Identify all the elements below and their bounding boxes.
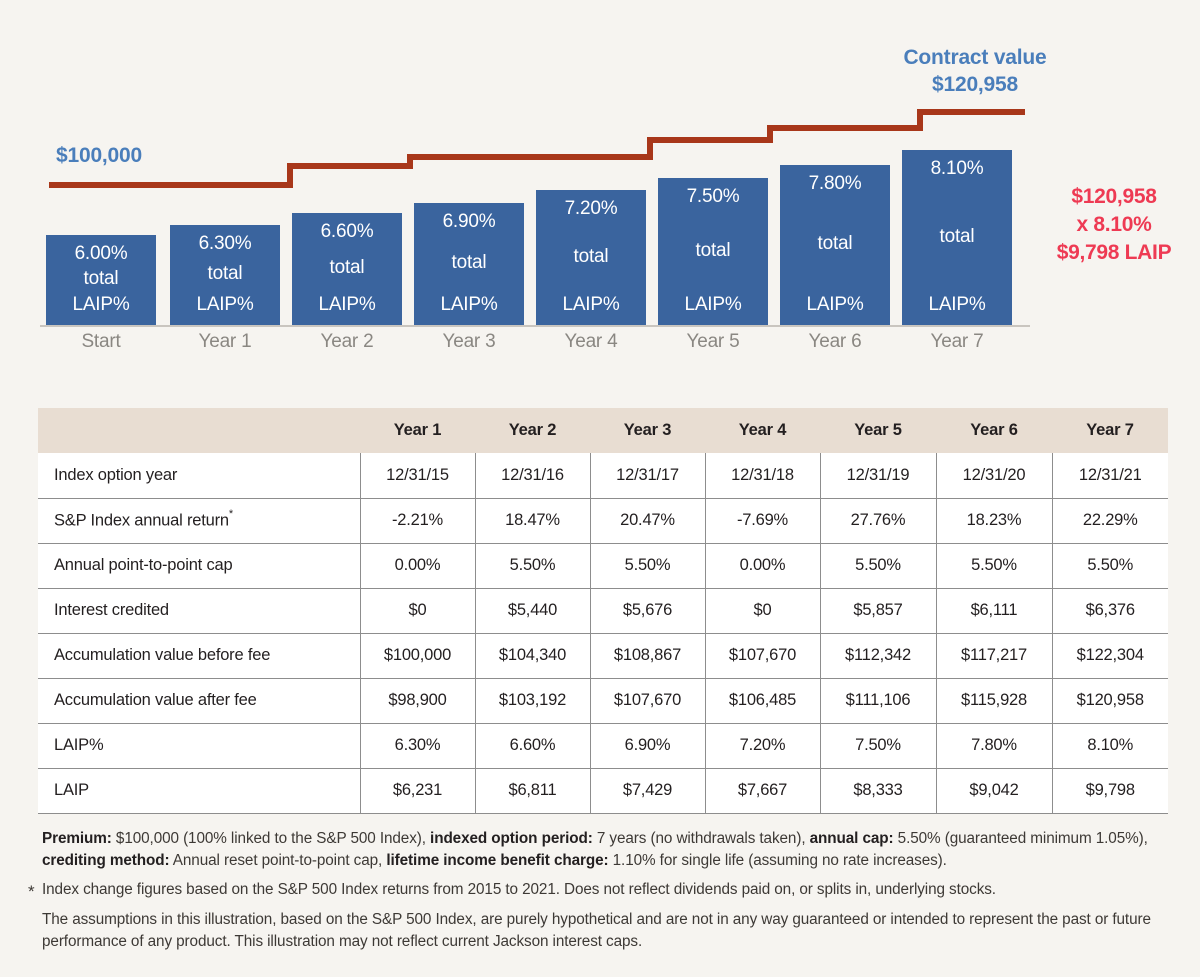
- row-label: Accumulation value after fee: [38, 678, 360, 723]
- table-cell: $103,192: [475, 678, 590, 723]
- table-cell: 8.10%: [1052, 723, 1168, 768]
- bar-slot-year-5: 7.50% total LAIP%: [658, 178, 768, 325]
- bar-percent-label: 6.30%: [199, 233, 252, 255]
- x-label-year-7: Year 7: [902, 331, 1012, 353]
- laip-calc-result: $9,798 LAIP: [1030, 239, 1198, 267]
- table-header-row: Year 1 Year 2 Year 3 Year 4 Year 5 Year …: [38, 408, 1168, 453]
- chart-area: $100,000 Contract value $120,958 6.00% t…: [0, 0, 1200, 400]
- bar-sub-label-1: total: [330, 257, 365, 279]
- bar-percent-label: 7.20%: [565, 198, 618, 220]
- x-label-year-5: Year 5: [658, 331, 768, 353]
- x-label-start: Start: [46, 331, 156, 353]
- bar-slot-start: 6.00% total LAIP%: [46, 235, 156, 325]
- bar-slot-year-3: 6.90% total LAIP%: [414, 203, 524, 325]
- assumption-value-annual-cap: 5.50% (guaranteed minimum 1.05%),: [894, 830, 1148, 847]
- laip-calc-value: $120,958: [1030, 183, 1198, 211]
- row-label: LAIP%: [38, 723, 360, 768]
- bar-sub-label-1: total: [818, 233, 853, 255]
- laip-calculation-callout: $120,958 x 8.10% $9,798 LAIP: [1030, 183, 1198, 267]
- laip-bar: 6.30% total LAIP%: [170, 225, 280, 325]
- bar-sub-label-2: LAIP%: [72, 294, 129, 316]
- table-cell: 6.90%: [590, 723, 705, 768]
- x-label-year-3: Year 3: [414, 331, 524, 353]
- bar-sub-label-2: LAIP%: [562, 294, 619, 316]
- table-cell: $108,867: [590, 633, 705, 678]
- table-cell: $106,485: [705, 678, 820, 723]
- table-row: LAIP% 6.30% 6.60% 6.90% 7.20% 7.50% 7.80…: [38, 723, 1168, 768]
- x-label-year-4: Year 4: [536, 331, 646, 353]
- assumption-label-annual-cap: annual cap:: [810, 830, 894, 847]
- footnote-star-note: Index change figures based on the S&P 50…: [42, 879, 1182, 901]
- contract-value-amount: $120,958: [860, 72, 1090, 99]
- chart-x-axis-labels: Start Year 1 Year 2 Year 3 Year 4 Year 5…: [46, 331, 1024, 361]
- footnote-disclaimer: The assumptions in this illustration, ba…: [42, 909, 1182, 953]
- table-cell: $5,440: [475, 588, 590, 633]
- bar-sub-label-2: LAIP%: [196, 294, 253, 316]
- x-label-year-1: Year 1: [170, 331, 280, 353]
- bar-sub-label-2: LAIP%: [440, 294, 497, 316]
- table-header-year-5: Year 5: [820, 408, 936, 453]
- table-cell: 18.47%: [475, 498, 590, 543]
- bar-slot-year-2: 6.60% total LAIP%: [292, 213, 402, 325]
- bar-percent-label: 8.10%: [931, 158, 984, 180]
- table-header-year-1: Year 1: [360, 408, 475, 453]
- table-cell: 20.47%: [590, 498, 705, 543]
- table-row: Accumulation value before fee $100,000 $…: [38, 633, 1168, 678]
- table-header-year-6: Year 6: [936, 408, 1052, 453]
- laip-bar: 6.00% total LAIP%: [46, 235, 156, 325]
- table-cell: 7.80%: [936, 723, 1052, 768]
- table-cell: 7.20%: [705, 723, 820, 768]
- x-label-year-6: Year 6: [780, 331, 890, 353]
- bar-sub-label-1: total: [574, 246, 609, 268]
- table-cell: 5.50%: [820, 543, 936, 588]
- laip-bars-row: 6.00% total LAIP% 6.30% total LAIP% 6.60…: [46, 120, 1024, 325]
- table-header-blank: [38, 408, 360, 453]
- table-cell: 22.29%: [1052, 498, 1168, 543]
- row-label: Annual point-to-point cap: [38, 543, 360, 588]
- table-cell: 6.60%: [475, 723, 590, 768]
- table-cell: $7,667: [705, 768, 820, 813]
- assumptions-paragraph: Premium: $100,000 (100% linked to the S&…: [42, 828, 1182, 872]
- table-cell: $115,928: [936, 678, 1052, 723]
- table-cell: 0.00%: [705, 543, 820, 588]
- bar-sub-label-2: LAIP%: [684, 294, 741, 316]
- table-cell: $9,042: [936, 768, 1052, 813]
- table-cell: 6.30%: [360, 723, 475, 768]
- bar-percent-label: 6.60%: [321, 221, 374, 243]
- assumption-label-crediting-method: crediting method:: [42, 852, 169, 869]
- table-cell: $9,798: [1052, 768, 1168, 813]
- table-cell: $6,811: [475, 768, 590, 813]
- footnote-star-marker: *: [28, 880, 35, 905]
- x-label-year-2: Year 2: [292, 331, 402, 353]
- assumption-value-option-period: 7 years (no withdrawals taken),: [593, 830, 810, 847]
- footnotes-section: * Premium: $100,000 (100% linked to the …: [42, 828, 1182, 960]
- bar-sub-label-1: total: [940, 226, 975, 248]
- assumption-label-premium: Premium:: [42, 830, 112, 847]
- table-cell: 5.50%: [1052, 543, 1168, 588]
- table-cell: $5,857: [820, 588, 936, 633]
- row-label: Accumulation value before fee: [38, 633, 360, 678]
- table-cell: 12/31/21: [1052, 453, 1168, 498]
- table-row: Accumulation value after fee $98,900 $10…: [38, 678, 1168, 723]
- table-cell: 12/31/18: [705, 453, 820, 498]
- contract-value-title: Contract value: [860, 45, 1090, 72]
- table-cell: $8,333: [820, 768, 936, 813]
- assumption-value-benefit-charge: 1.10% for single life (assuming no rate …: [609, 852, 947, 869]
- table-row: Interest credited $0 $5,440 $5,676 $0 $5…: [38, 588, 1168, 633]
- bar-sub-label-1: total: [208, 263, 243, 285]
- table-cell: -2.21%: [360, 498, 475, 543]
- bar-percent-label: 7.50%: [687, 186, 740, 208]
- table-cell: $100,000: [360, 633, 475, 678]
- assumption-label-option-period: indexed option period:: [430, 830, 593, 847]
- bar-sub-label-1: total: [84, 268, 119, 290]
- table-cell: $122,304: [1052, 633, 1168, 678]
- table-header-year-7: Year 7: [1052, 408, 1168, 453]
- table-cell: 5.50%: [936, 543, 1052, 588]
- table-cell: $112,342: [820, 633, 936, 678]
- table-cell: 12/31/16: [475, 453, 590, 498]
- illustration-table-wrapper: Year 1 Year 2 Year 3 Year 4 Year 5 Year …: [38, 408, 1168, 814]
- table-cell: $6,231: [360, 768, 475, 813]
- table-cell: -7.69%: [705, 498, 820, 543]
- table-cell: $107,670: [705, 633, 820, 678]
- table-cell: $5,676: [590, 588, 705, 633]
- bar-slot-year-7: 8.10% total LAIP%: [902, 150, 1012, 325]
- laip-bar: 6.90% total LAIP%: [414, 203, 524, 325]
- bar-percent-label: 7.80%: [809, 173, 862, 195]
- assumption-value-crediting-method: Annual reset point-to-point cap,: [169, 852, 386, 869]
- row-label: LAIP: [38, 768, 360, 813]
- laip-calc-rate: x 8.10%: [1030, 211, 1198, 239]
- bar-slot-year-6: 7.80% total LAIP%: [780, 165, 890, 325]
- table-row: LAIP $6,231 $6,811 $7,429 $7,667 $8,333 …: [38, 768, 1168, 813]
- laip-bar: 7.80% total LAIP%: [780, 165, 890, 325]
- bar-sub-label-1: total: [696, 240, 731, 262]
- table-row: S&P Index annual return* -2.21% 18.47% 2…: [38, 498, 1168, 543]
- bar-percent-label: 6.00%: [75, 243, 128, 265]
- row-label: S&P Index annual return*: [38, 498, 360, 543]
- footnote-star-icon: *: [229, 508, 233, 520]
- table-row: Index option year 12/31/15 12/31/16 12/3…: [38, 453, 1168, 498]
- table-cell: $104,340: [475, 633, 590, 678]
- bar-sub-label-2: LAIP%: [806, 294, 863, 316]
- table-cell: $117,217: [936, 633, 1052, 678]
- bar-sub-label-2: LAIP%: [318, 294, 375, 316]
- laip-bar: 7.20% total LAIP%: [536, 190, 646, 325]
- row-label-text: S&P Index annual return: [54, 512, 229, 530]
- table-cell: 12/31/17: [590, 453, 705, 498]
- bar-sub-label-2: LAIP%: [928, 294, 985, 316]
- laip-bar: 8.10% total LAIP%: [902, 150, 1012, 325]
- table-cell: 12/31/15: [360, 453, 475, 498]
- bar-sub-label-1: total: [452, 252, 487, 274]
- table-cell: 27.76%: [820, 498, 936, 543]
- table-cell: $0: [360, 588, 475, 633]
- assumption-label-benefit-charge: lifetime income benefit charge:: [386, 852, 608, 869]
- table-cell: 7.50%: [820, 723, 936, 768]
- table-header-year-4: Year 4: [705, 408, 820, 453]
- assumption-value-premium: $100,000 (100% linked to the S&P 500 Ind…: [112, 830, 430, 847]
- table-cell: 12/31/20: [936, 453, 1052, 498]
- table-cell: $107,670: [590, 678, 705, 723]
- table-cell: $120,958: [1052, 678, 1168, 723]
- table-header-year-3: Year 3: [590, 408, 705, 453]
- table-cell: $111,106: [820, 678, 936, 723]
- table-header-year-2: Year 2: [475, 408, 590, 453]
- row-label: Interest credited: [38, 588, 360, 633]
- laip-bar: 6.60% total LAIP%: [292, 213, 402, 325]
- row-label: Index option year: [38, 453, 360, 498]
- table-cell: $6,376: [1052, 588, 1168, 633]
- illustration-table: Year 1 Year 2 Year 3 Year 4 Year 5 Year …: [38, 408, 1168, 814]
- table-cell: 12/31/19: [820, 453, 936, 498]
- table-cell: $0: [705, 588, 820, 633]
- table-cell: 18.23%: [936, 498, 1052, 543]
- laip-bar: 7.50% total LAIP%: [658, 178, 768, 325]
- bar-slot-year-4: 7.20% total LAIP%: [536, 190, 646, 325]
- table-cell: 0.00%: [360, 543, 475, 588]
- table-cell: $7,429: [590, 768, 705, 813]
- contract-value-callout: Contract value $120,958: [860, 45, 1090, 99]
- bar-slot-year-1: 6.30% total LAIP%: [170, 225, 280, 325]
- table-cell: $98,900: [360, 678, 475, 723]
- bar-percent-label: 6.90%: [443, 211, 496, 233]
- table-cell: $6,111: [936, 588, 1052, 633]
- chart-baseline: [40, 325, 1030, 327]
- table-cell: 5.50%: [590, 543, 705, 588]
- table-cell: 5.50%: [475, 543, 590, 588]
- table-row: Annual point-to-point cap 0.00% 5.50% 5.…: [38, 543, 1168, 588]
